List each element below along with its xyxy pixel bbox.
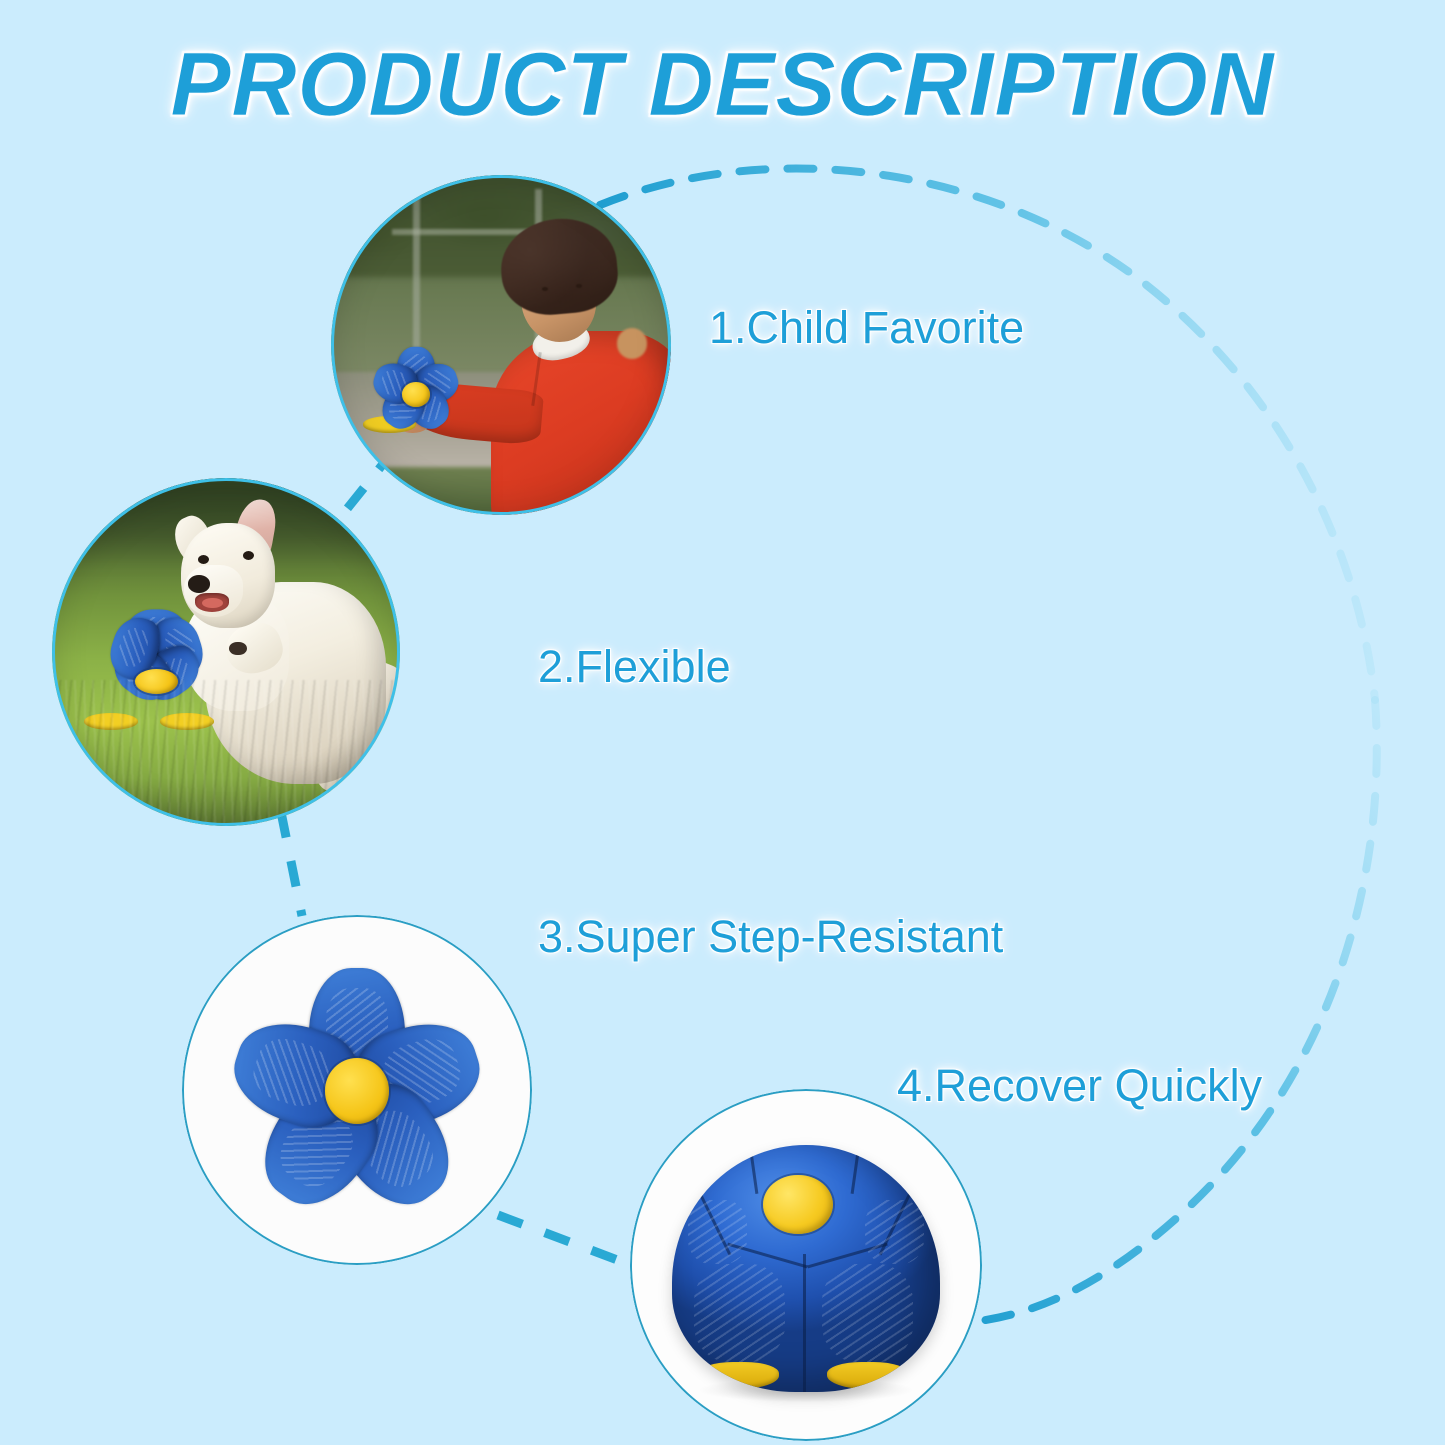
flying-disc-flower: [358, 345, 474, 447]
product-description-poster: PRODUCT DESCRIPTION: [0, 0, 1445, 1445]
feature-image-recover-quickly: [630, 1089, 982, 1441]
photo-domed-ball: [630, 1089, 982, 1441]
feature-label-4: 4.Recover Quickly: [897, 1060, 1262, 1112]
feature-label-2: 2.Flexible: [538, 641, 731, 693]
connector-2-to-3: [281, 812, 302, 916]
feature-image-flexible: [52, 478, 400, 826]
flying-disc-flower-flat: [224, 954, 490, 1227]
photo-dog-with-disc: [52, 478, 400, 826]
photo-flat-disc: [182, 915, 532, 1265]
flying-disc-ball-form: [672, 1145, 940, 1391]
feature-image-step-resistant: [182, 915, 532, 1265]
feature-label-1: 1.Child Favorite: [709, 302, 1024, 354]
arc-connector-outer-bottom: [962, 700, 1377, 1323]
arc-connector-outer-top: [600, 169, 1375, 700]
feature-label-3: 3.Super Step-Resistant: [538, 911, 1003, 963]
page-title: PRODUCT DESCRIPTION: [0, 34, 1445, 137]
feature-image-child-favorite: [331, 175, 671, 515]
photo-child-with-disc: [331, 175, 671, 515]
